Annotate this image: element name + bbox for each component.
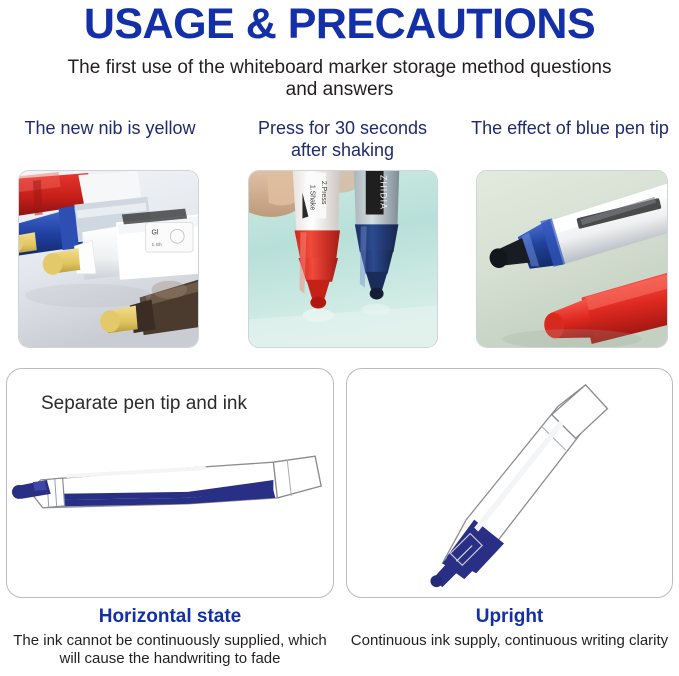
horizontal-marker-diagram [7, 369, 333, 597]
footer-title-horizontal: Horizontal state [4, 604, 336, 630]
column-caption-3: The effect of blue pen tip [470, 118, 670, 140]
svg-text:2.Press: 2.Press [320, 181, 327, 205]
footer-desc-upright: Continuous ink supply, continuous writin… [344, 632, 675, 651]
svg-text:1.Shake: 1.Shake [308, 185, 315, 210]
column-caption-2: Press for 30 seconds after shaking [240, 118, 445, 161]
svg-text:ZHIDIA: ZHIDIA [379, 175, 389, 210]
footer-captions: Horizontal state The ink cannot be conti… [0, 604, 679, 676]
page-subtitle: The first use of the whiteboard marker s… [50, 57, 629, 102]
upright-marker-diagram [347, 369, 672, 597]
page-title: USAGE & PRECAUTIONS [0, 2, 679, 47]
horizontal-state-panel: Separate pen tip and ink [6, 368, 334, 598]
footer-desc-horizontal: The ink cannot be continuously supplied,… [4, 632, 336, 670]
upright-state-panel [346, 368, 673, 598]
diagram-panels: Separate pen tip and ink [0, 368, 679, 600]
svg-text:Gl: Gl [152, 229, 159, 236]
column-caption-1: The new nib is yellow [10, 118, 210, 140]
footer-upright: Upright Continuous ink supply, continuou… [344, 604, 675, 650]
photo-new-yellow-nib: Gl 1.Sh [18, 170, 199, 348]
footer-horizontal: Horizontal state The ink cannot be conti… [4, 604, 336, 669]
photo-press-after-shaking: 2.Press 1.Shake ZHIDIA [248, 170, 438, 348]
photo-row: Gl 1.Sh [0, 170, 679, 350]
svg-text:1.Sh: 1.Sh [152, 242, 162, 248]
photo-blue-pen-tip-effect [476, 170, 668, 348]
footer-title-upright: Upright [344, 604, 675, 630]
column-captions: The new nib is yellow Press for 30 secon… [0, 118, 679, 164]
usage-precautions-infographic: USAGE & PRECAUTIONS The first use of the… [0, 0, 679, 676]
